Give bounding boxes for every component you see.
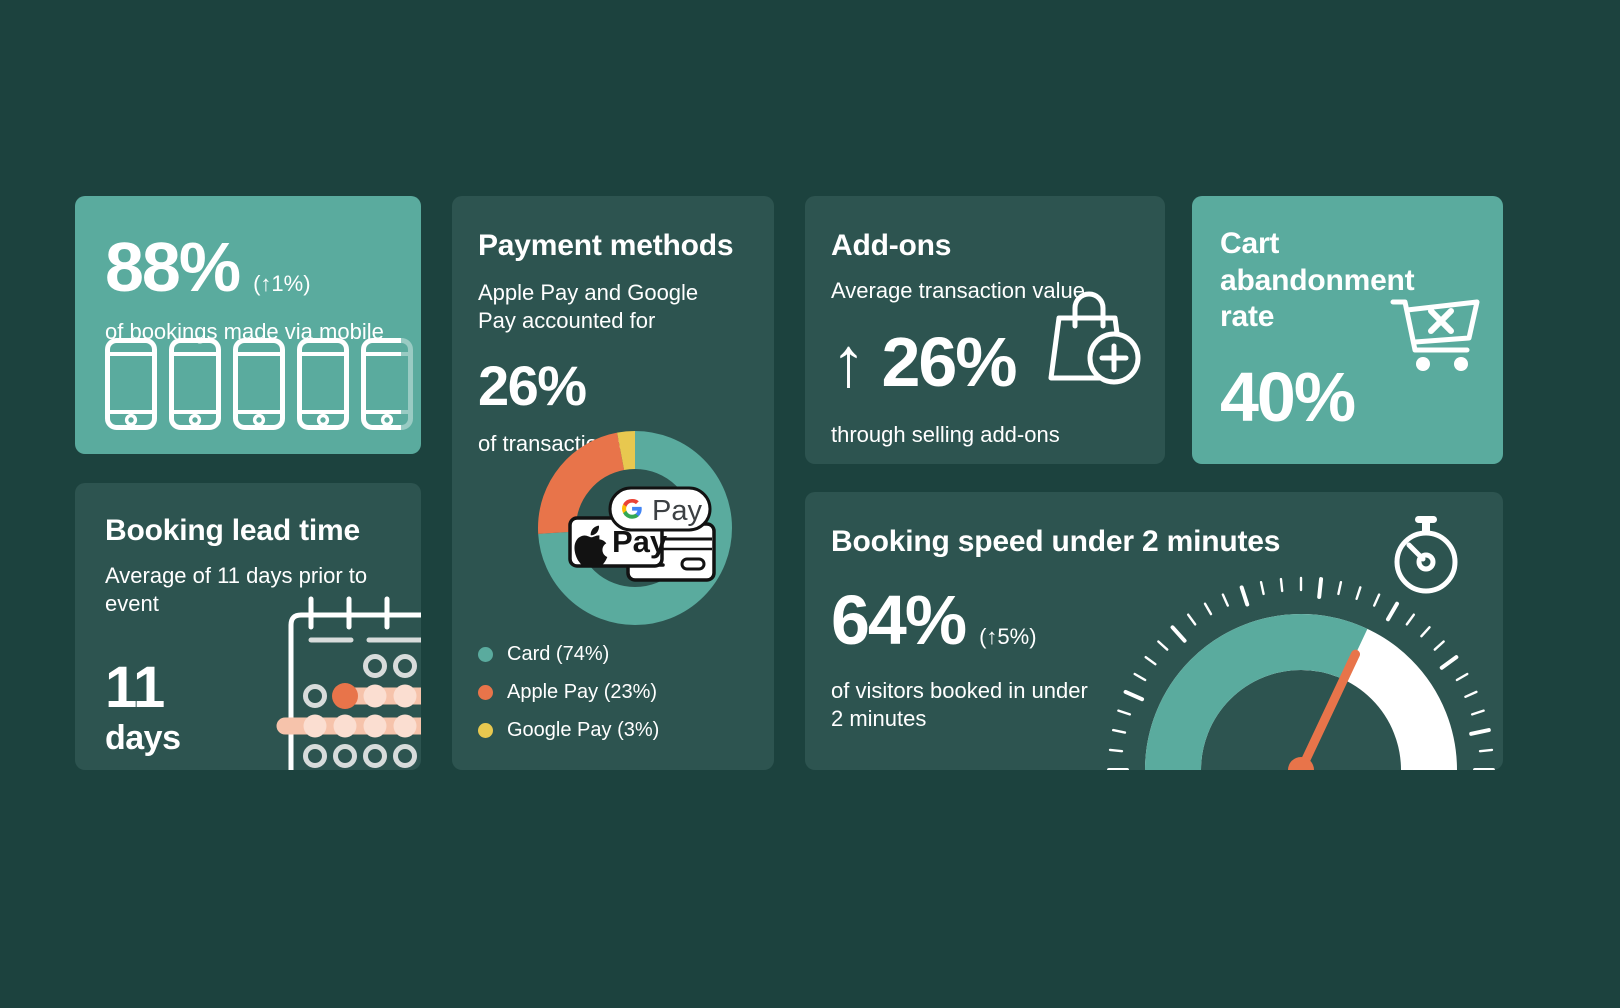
addons-caption: through selling add-ons xyxy=(831,421,1165,450)
legend-item-google-pay: Google Pay (3%) xyxy=(478,719,659,742)
addons-title: Add-ons xyxy=(831,228,1165,265)
card-booking-lead-time: Booking lead time Average of 11 days pri… xyxy=(75,483,421,770)
legend-dot-card xyxy=(478,647,493,662)
legend-dot-apple-pay xyxy=(478,685,493,700)
lead-time-value-block: 11 days xyxy=(105,659,181,760)
phone-pictogram-group xyxy=(105,338,413,430)
mobile-delta: (↑1%) xyxy=(253,271,310,297)
google-pay-badge: Pay xyxy=(610,488,710,530)
mobile-phone-icon xyxy=(105,338,157,430)
legend-item-apple-pay: Apple Pay (23%) xyxy=(478,681,659,704)
calendar-illustration xyxy=(275,595,421,770)
legend-label-google-pay: Google Pay (3%) xyxy=(507,719,659,742)
infographic-board: 88% (↑1%) of bookings made via mobile xyxy=(0,0,1620,1008)
mobile-percent: 88% xyxy=(105,232,239,302)
speed-percent: 64% xyxy=(831,585,965,655)
payment-subtitle: Apple Pay and Google Pay accounted for xyxy=(478,279,730,336)
card-booking-speed: Booking speed under 2 minutes 64% (↑5%) … xyxy=(805,492,1503,770)
google-pay-label: Pay xyxy=(652,495,702,527)
booking-speed-gauge xyxy=(1101,570,1501,770)
payment-donut-chart: Pay Pay xyxy=(460,406,770,636)
mobile-phone-icon xyxy=(233,338,285,430)
card-mobile-bookings: 88% (↑1%) of bookings made via mobile xyxy=(75,196,421,454)
lead-time-unit: days xyxy=(105,717,181,760)
mobile-phone-icon xyxy=(297,338,349,430)
legend-item-card: Card (74%) xyxy=(478,643,659,666)
cart-removed-icon xyxy=(1389,294,1481,379)
card-payment-methods: Payment methods Apple Pay and Google Pay… xyxy=(452,196,774,770)
mobile-phone-icon xyxy=(169,338,221,430)
legend-label-card: Card (74%) xyxy=(507,643,609,666)
payment-legend: Card (74%) Apple Pay (23%) Google Pay (3… xyxy=(478,643,659,742)
calendar-icon xyxy=(275,595,421,770)
lead-time-number: 11 xyxy=(105,659,181,717)
card-addons: Add-ons Average transaction value ↑ 26% … xyxy=(805,196,1165,464)
speed-delta: (↑5%) xyxy=(979,624,1036,650)
legend-label-apple-pay: Apple Pay (23%) xyxy=(507,681,657,704)
shopping-bag-plus-icon xyxy=(1045,288,1141,393)
speed-caption: of visitors booked in under 2 minutes xyxy=(831,677,1093,734)
mobile-phone-icon-partial xyxy=(361,338,413,430)
mobile-value-row: 88% (↑1%) xyxy=(105,232,421,302)
payment-title: Payment methods xyxy=(478,228,774,265)
card-cart-abandonment: Cart abandonment rate 40% (37% less than… xyxy=(1192,196,1503,464)
cart-note: (37% less than industry avg.) xyxy=(1220,462,1503,464)
lead-time-title: Booking lead time xyxy=(105,513,421,550)
legend-dot-google-pay xyxy=(478,723,493,738)
